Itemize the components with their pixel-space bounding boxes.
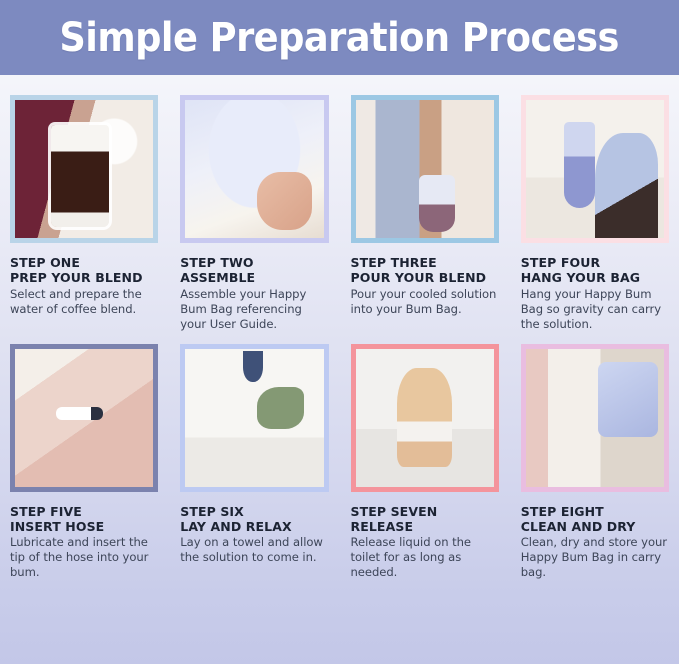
step-two-photo-frame — [180, 95, 328, 243]
french-press-coffee-photo — [15, 100, 153, 238]
pouring-solution-photo — [356, 100, 494, 238]
step-four-name: HANG YOUR BAG — [521, 270, 669, 285]
step-seven-name: RELEASE — [351, 519, 499, 534]
step-five-photo-frame — [10, 344, 158, 492]
step-eight-name: CLEAN AND DRY — [521, 519, 669, 534]
step-two-name: ASSEMBLE — [180, 270, 328, 285]
step-four-text: STEP FOUR HANG YOUR BAG Hang your Happy … — [521, 243, 669, 332]
step-eight-number: STEP EIGHT — [521, 504, 669, 519]
step-eight-photo-frame — [521, 344, 669, 492]
step-card-eight: STEP EIGHT CLEAN AND DRY Clean, dry and … — [521, 344, 669, 581]
step-one-text: STEP ONE PREP YOUR BLEND Select and prep… — [10, 243, 158, 317]
step-two-description: Assemble your Happy Bum Bag referencing … — [180, 287, 328, 332]
step-four-description: Hang your Happy Bum Bag so gravity can c… — [521, 287, 669, 332]
step-six-name: LAY AND RELAX — [180, 519, 328, 534]
step-seven-number: STEP SEVEN — [351, 504, 499, 519]
step-seven-description: Release liquid on the toilet for as long… — [351, 535, 499, 580]
step-three-description: Pour your cooled solution into your Bum … — [351, 287, 499, 317]
step-eight-description: Clean, dry and store your Happy Bum Bag … — [521, 535, 669, 580]
page-title: Simple Preparation Process — [60, 18, 620, 58]
step-five-text: STEP FIVE INSERT HOSE Lubricate and inse… — [10, 492, 158, 581]
step-one-number: STEP ONE — [10, 255, 158, 270]
step-six-photo-frame — [180, 344, 328, 492]
lay-and-relax-photo — [185, 349, 323, 487]
header-banner: Simple Preparation Process — [0, 0, 679, 75]
step-six-description: Lay on a towel and allow the solution to… — [180, 535, 328, 565]
step-one-photo-frame — [10, 95, 158, 243]
clean-and-dry-photo — [526, 349, 664, 487]
step-six-text: STEP SIX LAY AND RELAX Lay on a towel an… — [180, 492, 328, 566]
step-two-number: STEP TWO — [180, 255, 328, 270]
happy-bum-bag-photo — [185, 100, 323, 238]
insert-hose-photo — [15, 349, 153, 487]
step-one-name: PREP YOUR BLEND — [10, 270, 158, 285]
step-card-two: STEP TWO ASSEMBLE Assemble your Happy Bu… — [180, 95, 328, 332]
step-card-four: STEP FOUR HANG YOUR BAG Hang your Happy … — [521, 95, 669, 332]
step-three-name: POUR YOUR BLEND — [351, 270, 499, 285]
step-card-three: STEP THREE POUR YOUR BLEND Pour your coo… — [351, 95, 499, 332]
step-four-photo-frame — [521, 95, 669, 243]
step-five-number: STEP FIVE — [10, 504, 158, 519]
step-three-number: STEP THREE — [351, 255, 499, 270]
hanging-bag-photo — [526, 100, 664, 238]
step-two-text: STEP TWO ASSEMBLE Assemble your Happy Bu… — [180, 243, 328, 332]
step-five-name: INSERT HOSE — [10, 519, 158, 534]
step-card-five: STEP FIVE INSERT HOSE Lubricate and inse… — [10, 344, 158, 581]
step-eight-text: STEP EIGHT CLEAN AND DRY Clean, dry and … — [521, 492, 669, 581]
step-four-number: STEP FOUR — [521, 255, 669, 270]
step-card-seven: STEP SEVEN RELEASE Release liquid on the… — [351, 344, 499, 581]
steps-grid: STEP ONE PREP YOUR BLEND Select and prep… — [0, 75, 679, 588]
step-one-description: Select and prepare the water of coffee b… — [10, 287, 158, 317]
step-three-photo-frame — [351, 95, 499, 243]
step-three-text: STEP THREE POUR YOUR BLEND Pour your coo… — [351, 243, 499, 317]
step-six-number: STEP SIX — [180, 504, 328, 519]
step-card-one: STEP ONE PREP YOUR BLEND Select and prep… — [10, 95, 158, 332]
step-five-description: Lubricate and insert the tip of the hose… — [10, 535, 158, 580]
step-card-six: STEP SIX LAY AND RELAX Lay on a towel an… — [180, 344, 328, 581]
step-seven-photo-frame — [351, 344, 499, 492]
release-on-toilet-photo — [356, 349, 494, 487]
step-seven-text: STEP SEVEN RELEASE Release liquid on the… — [351, 492, 499, 581]
